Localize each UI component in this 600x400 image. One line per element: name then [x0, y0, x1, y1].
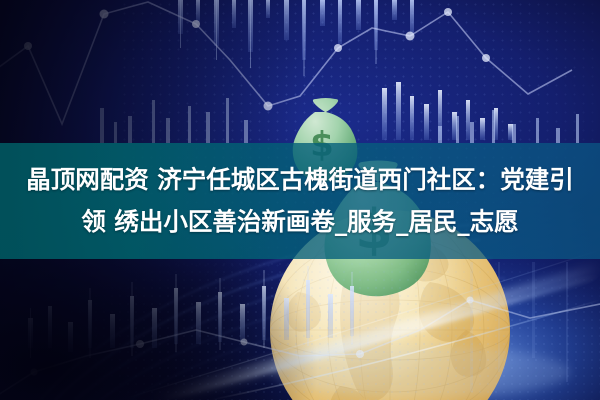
- headline-line-1: 晶顶网配资 济宁任城区古槐街道西门社区：党建引: [26, 160, 574, 200]
- banner-image: $ $: [0, 0, 600, 400]
- headline-block: 晶顶网配资 济宁任城区古槐街道西门社区：党建引 领 绣出小区善治新画卷_服务_居…: [0, 143, 600, 259]
- headline-line-2: 领 绣出小区善治新画卷_服务_居民_志愿: [81, 202, 518, 242]
